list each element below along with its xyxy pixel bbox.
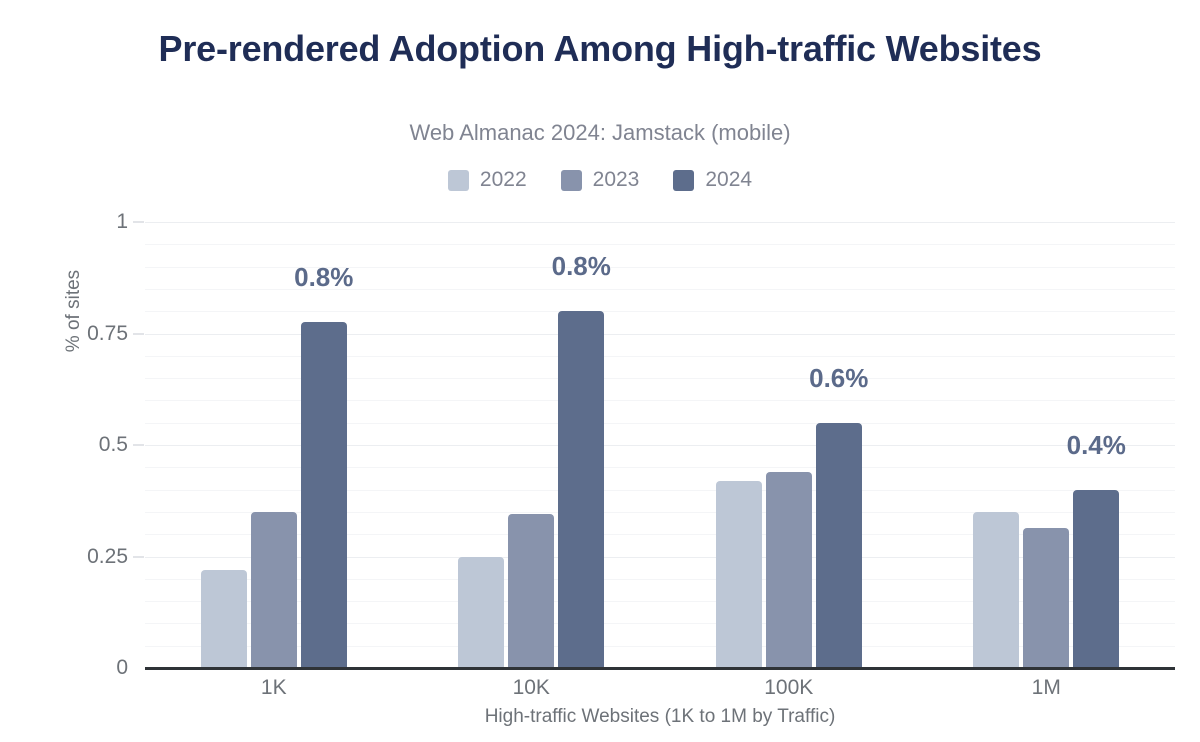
bar-10K-2024[interactable] xyxy=(558,311,604,668)
bar-100K-2023[interactable] xyxy=(766,472,812,668)
legend-label: 2022 xyxy=(480,168,527,192)
gridline-minor xyxy=(145,467,1175,468)
y-tick-label: 0.75 xyxy=(18,322,128,346)
gridline-minor xyxy=(145,623,1175,624)
bar-100K-2024[interactable] xyxy=(816,423,862,668)
gridline-major xyxy=(145,222,1175,223)
legend-swatch-icon xyxy=(561,170,582,191)
gridline-minor xyxy=(145,534,1175,535)
gridline-minor xyxy=(145,423,1175,424)
bar-1K-2023[interactable] xyxy=(251,512,297,668)
gridline-major xyxy=(145,334,1175,335)
bar-1M-2022[interactable] xyxy=(973,512,1019,668)
legend-swatch-icon xyxy=(448,170,469,191)
chart-title: Pre-rendered Adoption Among High-traffic… xyxy=(120,28,1080,70)
gridline-minor xyxy=(145,579,1175,580)
data-label-1M: 0.4% xyxy=(1067,430,1126,461)
x-tick-label-100K: 100K xyxy=(764,676,813,700)
bar-chart: Pre-rendered Adoption Among High-traffic… xyxy=(0,0,1200,742)
legend-swatch-icon xyxy=(673,170,694,191)
gridline-minor xyxy=(145,490,1175,491)
bar-1M-2023[interactable] xyxy=(1023,528,1069,668)
bar-1M-2024[interactable] xyxy=(1073,490,1119,668)
gridline-minor xyxy=(145,244,1175,245)
gridline-major xyxy=(145,445,1175,446)
legend-item-2024[interactable]: 2024 xyxy=(673,168,752,192)
gridline-minor xyxy=(145,646,1175,647)
gridline-minor xyxy=(145,512,1175,513)
data-label-1K: 0.8% xyxy=(294,262,353,293)
y-tick-label: 1 xyxy=(18,210,128,234)
x-tick-label-1K: 1K xyxy=(261,676,287,700)
y-tick-mark xyxy=(133,333,144,335)
bar-100K-2022[interactable] xyxy=(716,481,762,668)
x-tick-label-10K: 10K xyxy=(513,676,550,700)
y-tick-label: 0.25 xyxy=(18,545,128,569)
data-label-100K: 0.6% xyxy=(809,363,868,394)
y-tick-mark xyxy=(133,556,144,558)
legend-item-2023[interactable]: 2023 xyxy=(561,168,640,192)
bar-1K-2024[interactable] xyxy=(301,322,347,668)
legend-label: 2024 xyxy=(705,168,752,192)
y-tick-label: 0.5 xyxy=(18,433,128,457)
legend-label: 2023 xyxy=(593,168,640,192)
x-axis-title: High-traffic Websites (1K to 1M by Traff… xyxy=(145,706,1175,728)
data-label-10K: 0.8% xyxy=(552,251,611,282)
gridline-minor xyxy=(145,378,1175,379)
bar-1K-2022[interactable] xyxy=(201,570,247,668)
y-tick-label: 0 xyxy=(18,656,128,680)
gridline-minor xyxy=(145,601,1175,602)
chart-legend: 202220232024 xyxy=(0,168,1200,192)
y-tick-mark xyxy=(133,444,144,446)
x-axis-line xyxy=(145,667,1175,670)
x-tick-label-1M: 1M xyxy=(1032,676,1061,700)
y-axis-title: % of sites xyxy=(63,231,85,391)
legend-item-2022[interactable]: 2022 xyxy=(448,168,527,192)
y-tick-mark xyxy=(133,221,144,223)
gridline-major xyxy=(145,557,1175,558)
bar-10K-2023[interactable] xyxy=(508,514,554,668)
gridline-minor xyxy=(145,311,1175,312)
chart-subtitle: Web Almanac 2024: Jamstack (mobile) xyxy=(120,120,1080,146)
gridline-minor xyxy=(145,400,1175,401)
gridline-minor xyxy=(145,356,1175,357)
bar-10K-2022[interactable] xyxy=(458,557,504,669)
